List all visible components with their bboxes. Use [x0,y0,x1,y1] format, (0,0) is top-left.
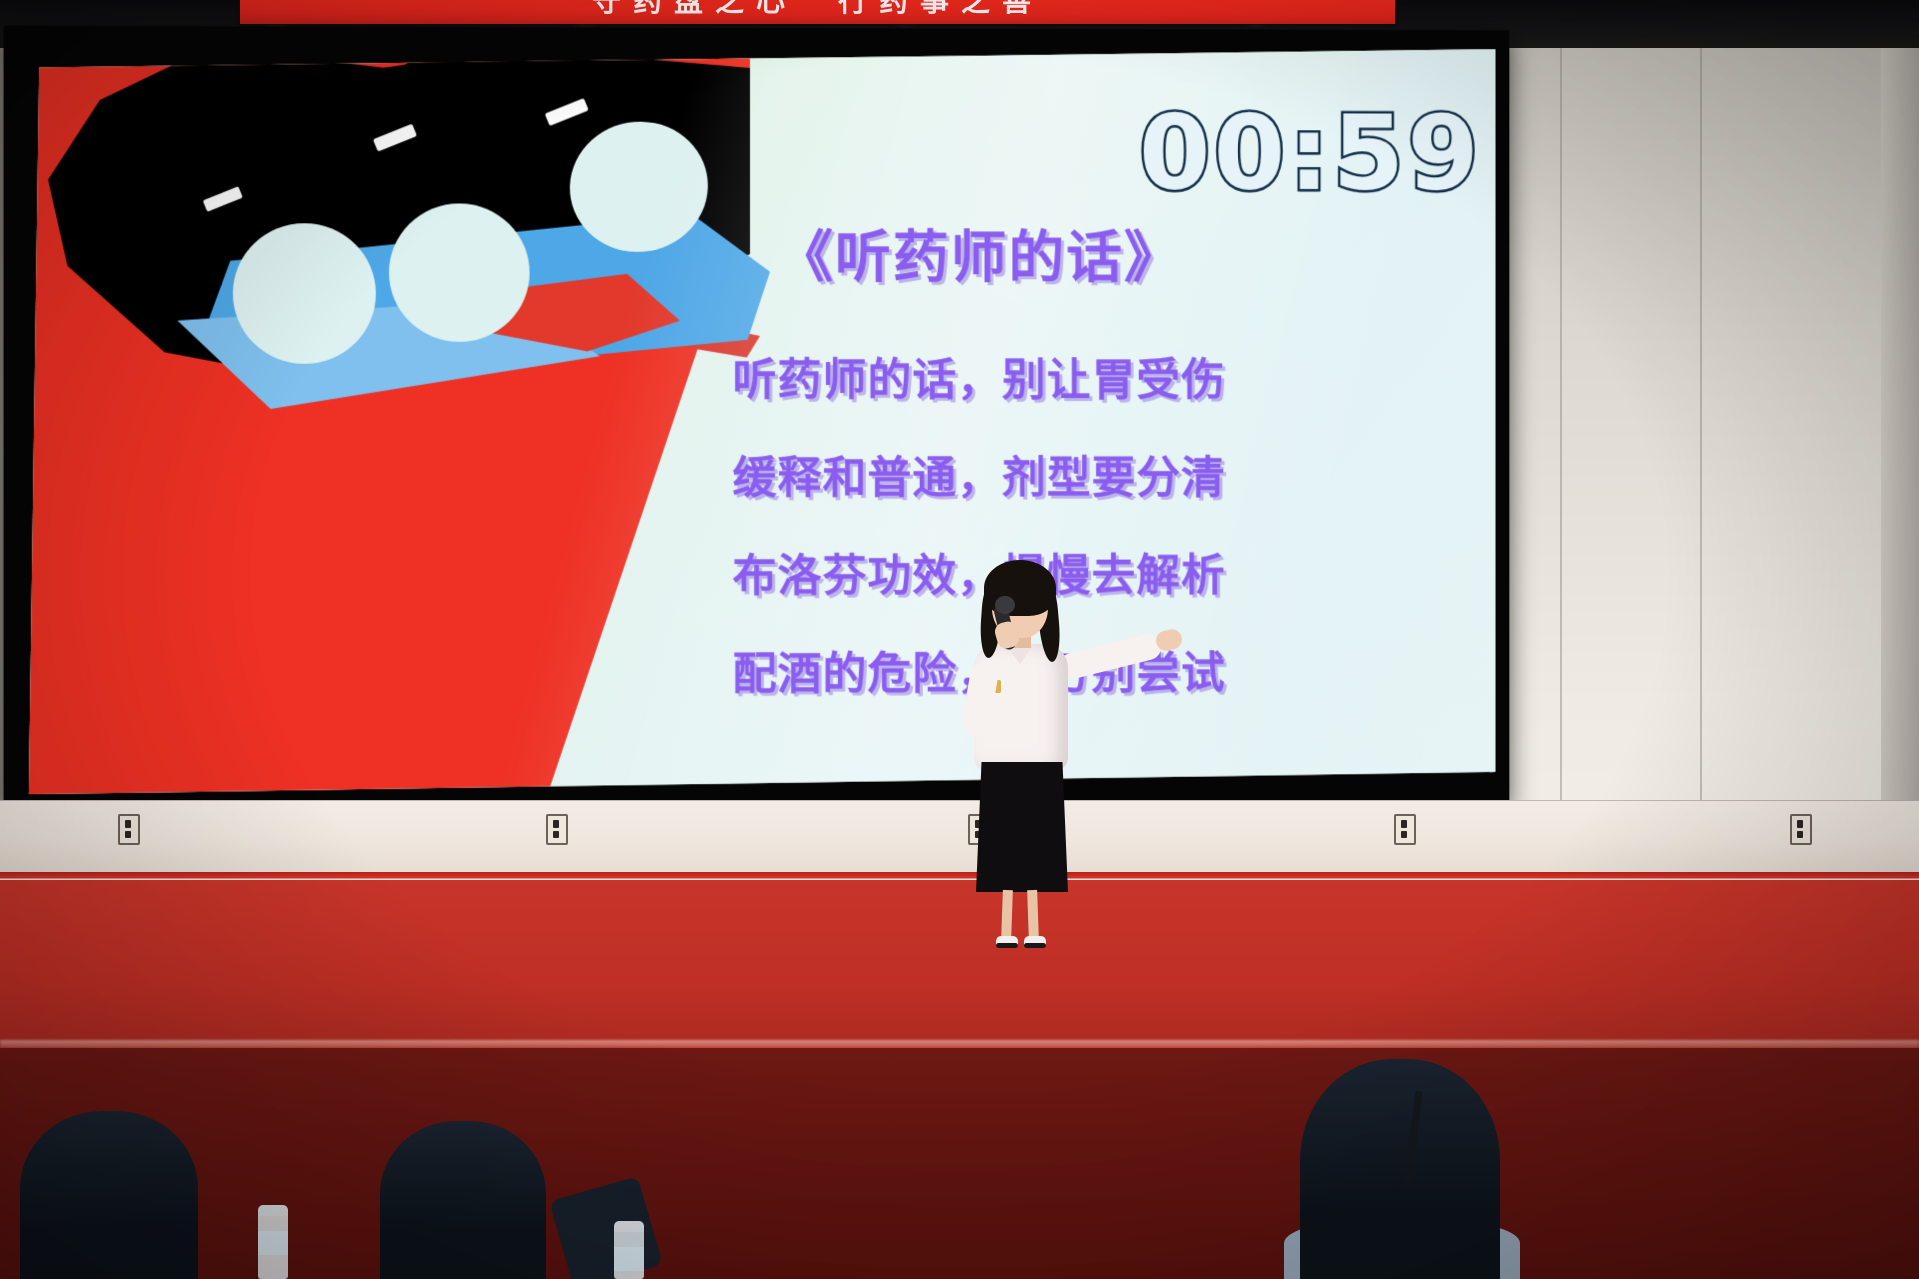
bottle-label [614,1247,644,1271]
venue-banner: 守药盘之心 行药事之善 [240,0,1395,24]
water-bottle [614,1221,644,1279]
led-screen: 00:59 《听药师的话》 听药师的话，别让胃受伤 缓释和普通，剂型要分清 布洛… [26,42,1496,794]
presenter-shoe-left [996,936,1018,948]
bottle-label [258,1231,288,1255]
water-bottle [258,1205,288,1279]
floor-highlight-line [0,1040,1919,1048]
led-screen-bezel: 00:59 《听药师的话》 听药师的话，别让胃受伤 缓释和普通，剂型要分清 布洛… [4,26,1510,813]
slide-title: 《听药师的话》 [720,212,1238,294]
wall-seam [1700,40,1702,920]
audience-head [1300,1059,1500,1279]
audience-head [20,1111,198,1279]
wall-socket-icon [118,814,140,845]
presenter-right-arm [1057,631,1164,681]
venue-banner-text: 守药盘之心 行药事之善 [240,0,1395,20]
countdown-timer: 00:59 [1139,101,1482,205]
bottle-cap [258,1205,288,1216]
wall-right-panel [1881,40,1919,920]
slide-line: 听药师的话，别让胃受伤 [660,344,1298,408]
wall-seam [1560,40,1562,920]
presenter-leg-left [1001,890,1013,940]
presenter-leg-right [1027,890,1039,940]
bottle-cap [614,1221,644,1232]
auditorium-scene: 守药盘之心 行药事之善 00:59 《听药师的话》 听药师的话，别让胃受伤 缓释… [0,0,1919,1279]
wall-socket-icon [1790,814,1812,845]
presenter-skirt [976,762,1068,892]
slide-line: 缓释和普通，剂型要分清 [660,442,1298,506]
wall-socket-icon [546,814,568,845]
presenter [940,560,1240,920]
presenter-shoe-right [1024,936,1046,948]
microphone-head-icon [995,596,1015,614]
audience-head [380,1121,546,1279]
wall-socket-icon [1394,814,1416,845]
